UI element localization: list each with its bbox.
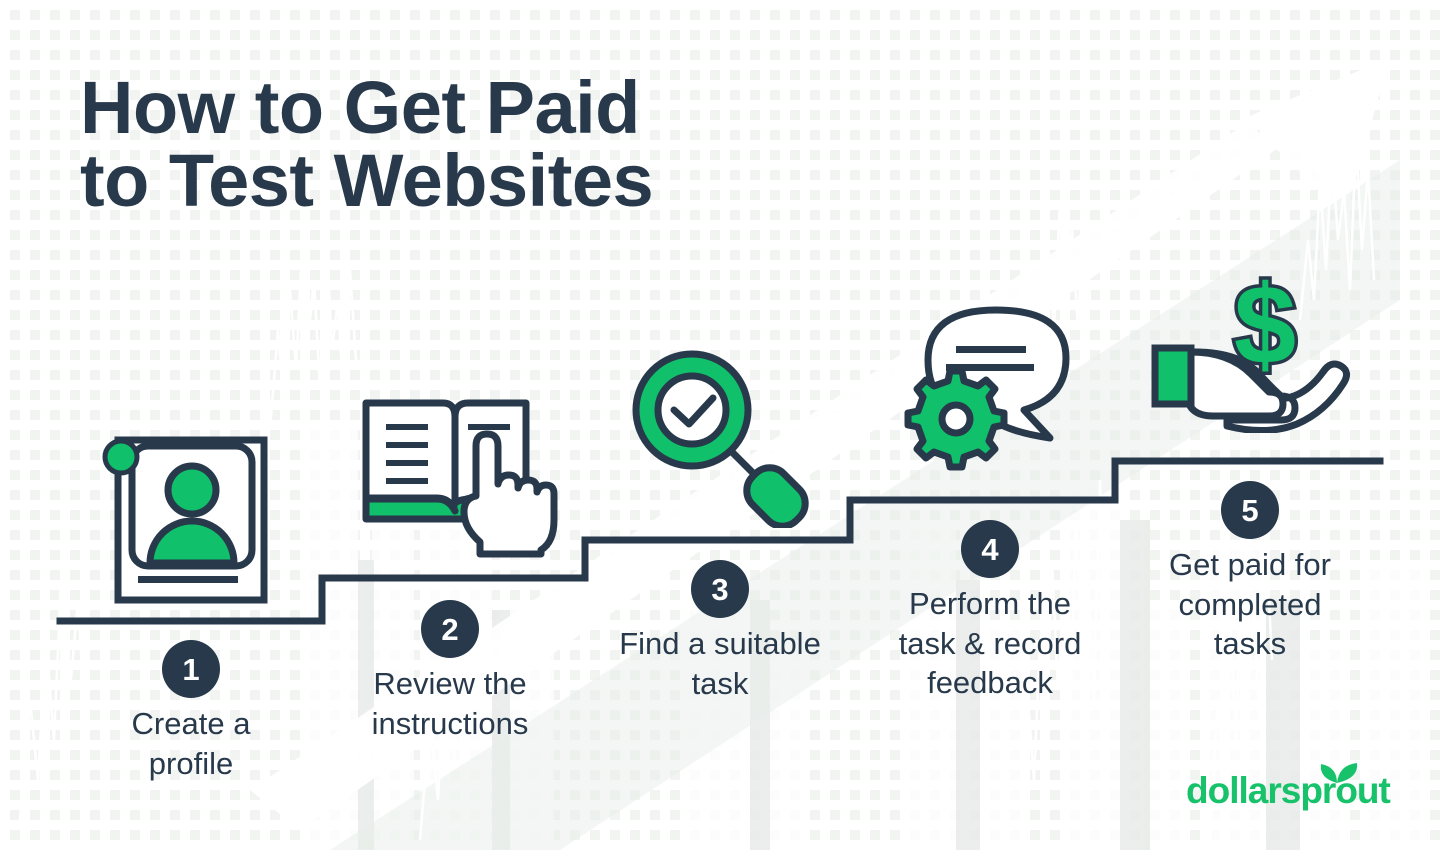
- open-book-hand-icon: [358, 392, 558, 567]
- step-3: 3 Find a suitable task: [592, 560, 848, 703]
- step-4: 4 Perform the task & record feedback: [865, 520, 1115, 703]
- step-4-badge: 4: [961, 520, 1019, 578]
- step-1-badge: 1: [162, 640, 220, 698]
- step-2-caption: Review the instructions: [372, 664, 529, 743]
- step-5-caption: Get paid for completed tasks: [1169, 545, 1331, 664]
- speech-bubble-gear-icon: [898, 298, 1088, 483]
- profile-card-icon: [100, 432, 290, 617]
- magnifier-check-icon: [628, 348, 818, 533]
- dollarsprout-logo[interactable]: dollarsprout: [1186, 772, 1390, 809]
- step-3-badge: 3: [691, 560, 749, 618]
- step-5: 5 Get paid for completed tasks: [1128, 481, 1372, 664]
- infographic-canvas: How to Get Paid to Test Websites: [0, 0, 1440, 850]
- hand-dollar-icon: $: [1143, 268, 1358, 438]
- step-1-caption: Create a profile: [132, 704, 251, 783]
- step-3-caption: Find a suitable task: [619, 624, 821, 703]
- sprout-leaf-icon: [1314, 755, 1360, 785]
- step-1: 1 Create a profile: [95, 640, 287, 783]
- step-5-badge: 5: [1221, 481, 1279, 539]
- step-4-caption: Perform the task & record feedback: [899, 584, 1082, 703]
- step-2-badge: 2: [421, 600, 479, 658]
- step-2: 2 Review the instructions: [340, 600, 560, 743]
